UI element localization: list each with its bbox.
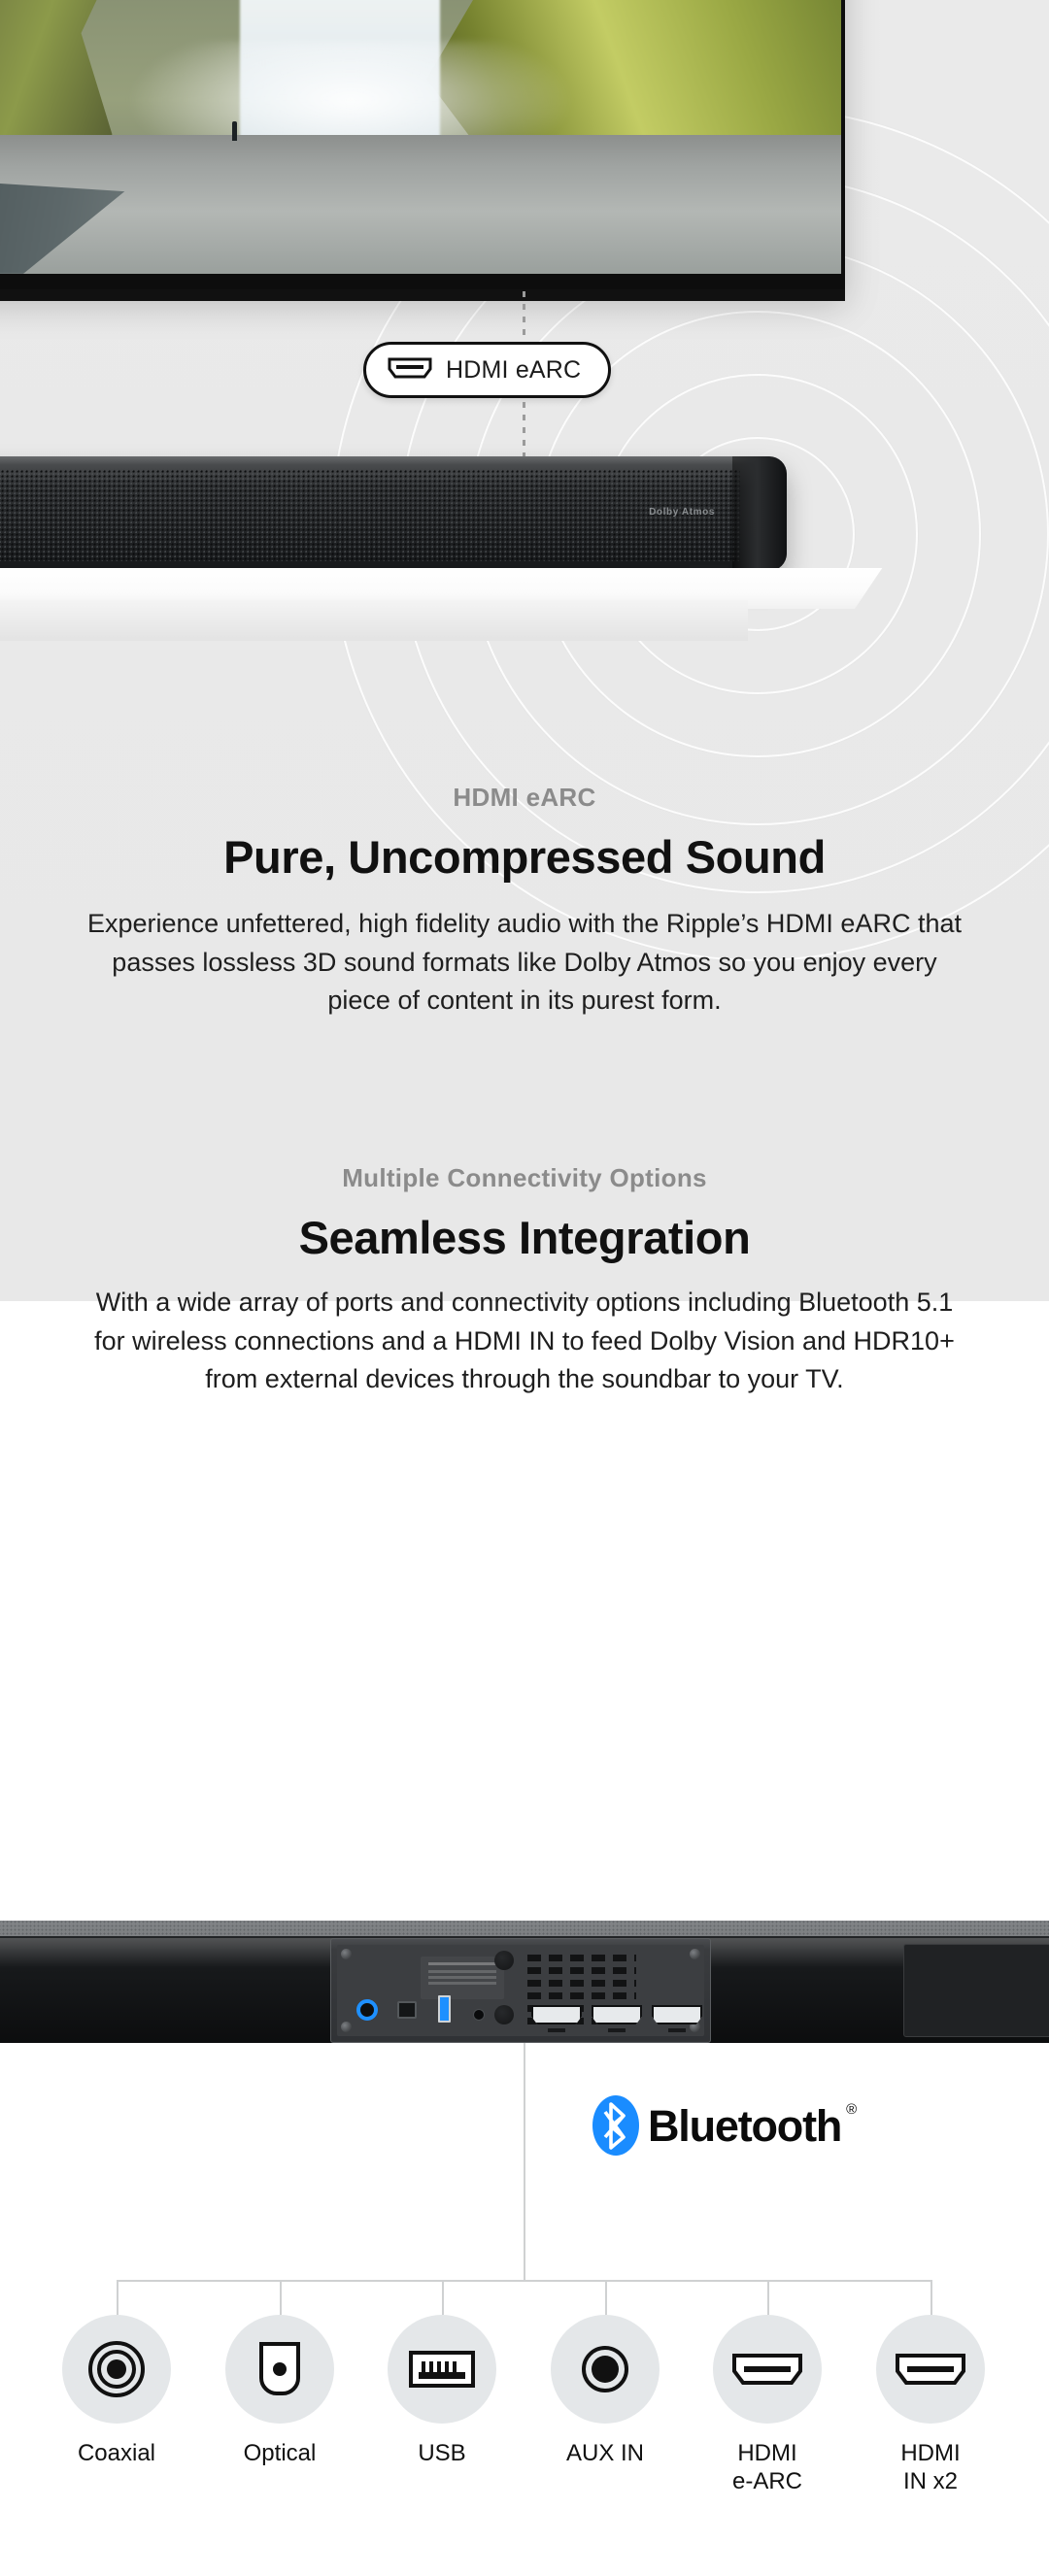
bluetooth-wordmark: Bluetooth xyxy=(648,2104,841,2148)
connector-drop-hdmi-in xyxy=(931,2280,932,2315)
coaxial-port-icon xyxy=(62,2315,171,2424)
person-silhouette xyxy=(232,121,237,141)
dolby-atmos-logo: Dolby Atmos xyxy=(649,507,715,518)
hdmi-earc-badge-label: HDMI eARC xyxy=(446,356,581,385)
shelf-front-edge xyxy=(0,600,748,641)
hdmi-earc-badge: HDMI eARC xyxy=(363,342,611,398)
hero-section: HDMI eARC Dolby Atmos HDMI eARC Pure, Un… xyxy=(0,0,1049,1301)
port-item-hdmi-in[interactable]: HDMI IN x2 xyxy=(853,2315,1008,2496)
port-item-hdmi-earc[interactable]: HDMI e-ARC xyxy=(690,2315,845,2496)
coaxial-port xyxy=(356,1999,378,2021)
bluetooth-logo: Bluetooth ® xyxy=(592,2095,857,2156)
connector-line-main xyxy=(524,2043,525,2282)
hdmi-port-icon xyxy=(713,2315,822,2424)
regulatory-label xyxy=(421,1957,504,1999)
port-label-hdmi-in: HDMI IN x2 xyxy=(853,2439,1008,2496)
connector-drop-optical xyxy=(280,2280,282,2315)
television-image xyxy=(0,0,845,289)
leader-line-bottom xyxy=(523,402,525,458)
connector-drop-usb xyxy=(442,2280,444,2315)
port-label-coaxial: Coaxial xyxy=(39,2439,194,2467)
connector-drop-coaxial xyxy=(117,2280,118,2315)
usb-port xyxy=(438,1995,451,2023)
screw-icon xyxy=(341,1949,352,1959)
soundbar-top-grille xyxy=(0,1921,1049,1936)
optical-port xyxy=(397,2001,417,2019)
mount-boss xyxy=(494,2005,514,2024)
hdmi-port-icon xyxy=(388,356,432,385)
port-label-optical: Optical xyxy=(202,2439,357,2467)
connectivity-headline: Seamless Integration xyxy=(0,1211,1049,1264)
soundbar-end-cap xyxy=(732,456,787,571)
soundbar-grille xyxy=(0,470,740,561)
soundbar-body: Dolby Atmos xyxy=(0,456,787,571)
port-item-optical[interactable]: Optical xyxy=(202,2315,357,2467)
aux-port xyxy=(473,2009,485,2021)
port-item-usb[interactable]: USB xyxy=(364,2315,520,2467)
connector-drop-hdmi-earc xyxy=(767,2280,769,2315)
connectivity-body: With a wide array of ports and connectiv… xyxy=(87,1284,962,1399)
port-label-usb: USB xyxy=(364,2439,520,2467)
screw-icon xyxy=(341,2022,352,2032)
bluetooth-icon xyxy=(592,2095,639,2156)
port-label-hdmi-earc: HDMI e-ARC xyxy=(690,2439,845,2496)
port-item-aux[interactable]: AUX IN xyxy=(527,2315,683,2467)
connector-line-horizontal xyxy=(117,2280,931,2282)
earc-body: Experience unfettered, high fidelity aud… xyxy=(87,905,962,1020)
hdmi-port xyxy=(652,2005,702,2024)
usb-port-icon xyxy=(388,2315,496,2424)
hdmi-port-icon xyxy=(876,2315,985,2424)
soundbar-side-plate xyxy=(903,1944,1049,2037)
hdmi-port xyxy=(592,2005,642,2024)
soundbar-rear-panel-image xyxy=(0,1921,1049,2043)
port-item-coaxial[interactable]: Coaxial xyxy=(39,2315,194,2467)
screw-icon xyxy=(690,1949,700,1959)
tv-screen xyxy=(0,0,841,274)
connector-drop-aux xyxy=(605,2280,607,2315)
port-icon-row: Coaxial Optical USB xyxy=(0,2315,1049,2519)
hdmi-port xyxy=(531,2005,582,2024)
connectivity-eyebrow: Multiple Connectivity Options xyxy=(0,1163,1049,1193)
earc-eyebrow: HDMI eARC xyxy=(0,783,1049,813)
optical-port-icon xyxy=(225,2315,334,2424)
hdmi-port-tag xyxy=(608,2028,626,2032)
earc-headline: Pure, Uncompressed Sound xyxy=(0,830,1049,884)
rear-port-bay xyxy=(330,1938,711,2043)
earc-copy-block: HDMI eARC Pure, Uncompressed Sound Exper… xyxy=(0,783,1049,1020)
aux-jack-icon xyxy=(551,2315,660,2424)
rear-port-bay-inner xyxy=(337,1945,704,2036)
hdmi-port-tag xyxy=(668,2028,686,2032)
registered-trademark-icon: ® xyxy=(846,2101,857,2118)
soundbar-hero-image: Dolby Atmos xyxy=(0,456,864,583)
mount-boss xyxy=(494,1951,514,1970)
leader-line-top xyxy=(523,291,525,348)
tv-bezel-bottom xyxy=(0,289,845,301)
hdmi-port-tag xyxy=(548,2028,565,2032)
connectivity-copy-block: Multiple Connectivity Options Seamless I… xyxy=(0,1163,1049,1399)
port-label-aux: AUX IN xyxy=(527,2439,683,2467)
